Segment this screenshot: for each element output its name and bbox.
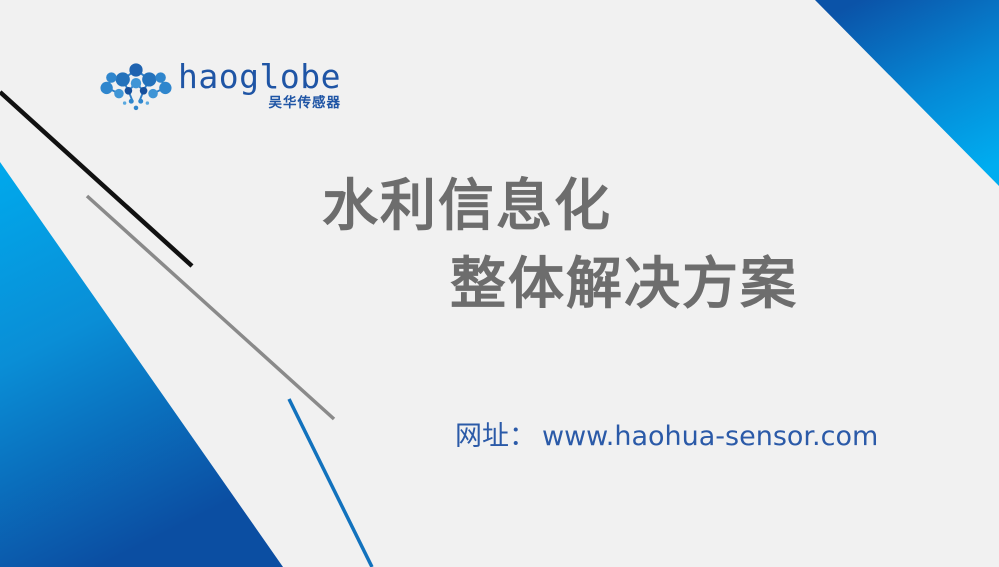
logo-subtext: 吴华传感器 (268, 95, 341, 111)
company-logo: haoglobe 吴华传感器 (100, 58, 315, 120)
page-title-line-2: 整体解决方案 (0, 246, 999, 324)
logo-wordmark: haoglobe (178, 60, 341, 94)
website-url[interactable]: www.haohua-sensor.com (542, 420, 878, 454)
title-block: 水利信息化 整体解决方案 (0, 168, 999, 324)
website-label: 网址： (455, 420, 536, 454)
haoglobe-molecule-logo-icon (100, 58, 172, 116)
page-title-line-1: 水利信息化 (0, 168, 999, 246)
logo-text-block: haoglobe 吴华传感器 (178, 58, 341, 111)
slide-canvas: haoglobe 吴华传感器 水利信息化 整体解决方案 网址： www.haoh… (0, 0, 999, 567)
website-line: 网址： www.haohua-sensor.com (455, 420, 878, 454)
blue-diagonal-line (289, 399, 372, 567)
